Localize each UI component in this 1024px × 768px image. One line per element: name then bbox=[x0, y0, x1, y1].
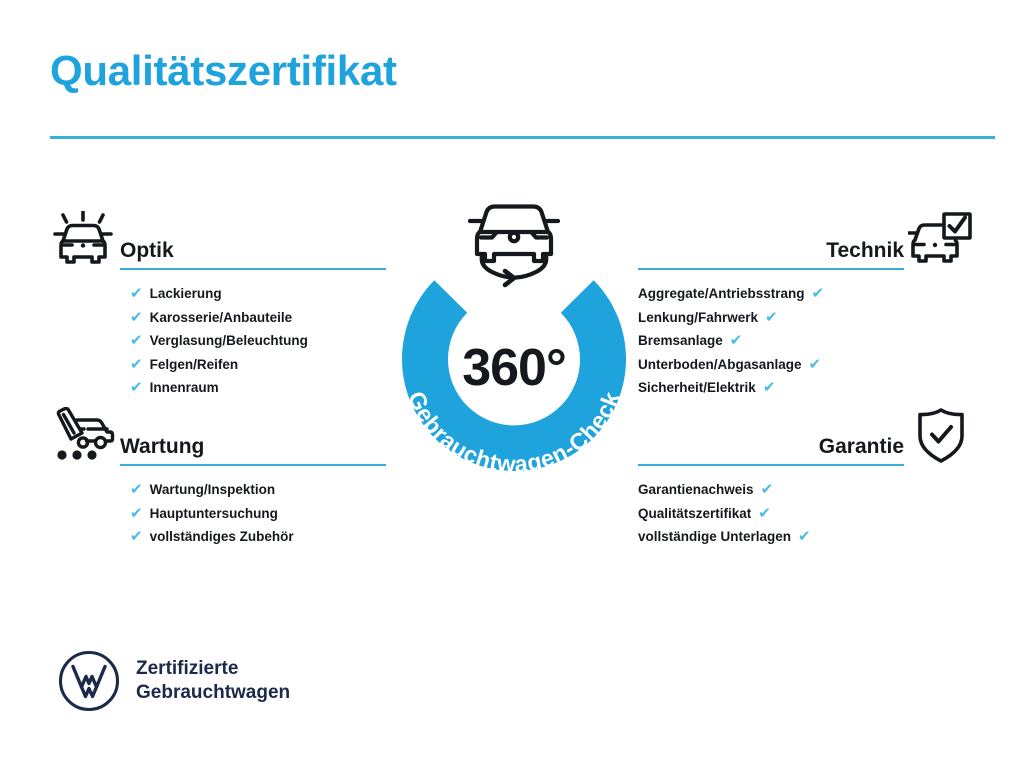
check-icon: ✔ bbox=[758, 506, 771, 521]
list-item: ✔vollständige Unterlagen bbox=[638, 525, 978, 549]
list-item: ✔Garantienachweis bbox=[638, 478, 978, 502]
list-item-label: Lenkung/Fahrwerk bbox=[638, 306, 758, 330]
list-item: ✔Unterboden/Abgasanlage bbox=[638, 353, 978, 377]
checklist-wartung: ✔Wartung/Inspektion ✔Hauptuntersuchung ✔… bbox=[46, 468, 386, 549]
pen-car-service-icon bbox=[46, 404, 120, 468]
list-item-label: Hauptuntersuchung bbox=[150, 502, 278, 526]
section-optik: Optik ✔Lackierung ✔Karosserie/Anbauteile… bbox=[46, 200, 386, 400]
list-item: ✔Verglasung/Beleuchtung bbox=[46, 329, 386, 353]
list-item-label: Unterboden/Abgasanlage bbox=[638, 353, 802, 377]
vw-brand-logo: Zertifizierte Gebrauchtwagen bbox=[58, 650, 290, 712]
section-wartung: Wartung ✔Wartung/Inspektion ✔Hauptunters… bbox=[46, 396, 386, 549]
vw-roundel-icon bbox=[58, 650, 120, 712]
page-title: Qualitätszertifikat bbox=[50, 50, 397, 92]
vw-brand-text: Zertifizierte Gebrauchtwagen bbox=[136, 657, 290, 706]
list-item-label: Wartung/Inspektion bbox=[150, 478, 276, 502]
check-icon: ✔ bbox=[130, 482, 143, 497]
vw-brand-line2: Gebrauchtwagen bbox=[136, 681, 290, 705]
checklist-optik: ✔Lackierung ✔Karosserie/Anbauteile ✔Verg… bbox=[46, 272, 386, 400]
check-icon: ✔ bbox=[130, 506, 143, 521]
list-item-label: vollständiges Zubehör bbox=[150, 525, 294, 549]
check-icon: ✔ bbox=[130, 529, 143, 544]
section-title-technik: Technik bbox=[638, 239, 904, 268]
section-title-garantie: Garantie bbox=[638, 435, 904, 464]
list-item-label: Qualitätszertifikat bbox=[638, 502, 751, 526]
list-item-label: Lackierung bbox=[150, 282, 222, 306]
section-title-optik: Optik bbox=[120, 239, 386, 268]
check-icon: ✔ bbox=[130, 286, 143, 301]
checklist-garantie: ✔Garantienachweis ✔Qualitätszertifikat ✔… bbox=[638, 468, 978, 549]
check-icon: ✔ bbox=[812, 286, 825, 301]
list-item-label: Garantienachweis bbox=[638, 478, 754, 502]
check-icon: ✔ bbox=[130, 333, 143, 348]
list-item: ✔Wartung/Inspektion bbox=[46, 478, 386, 502]
gebrauchtwagen-check-badge: Gebrauchtwagen-Check 360° bbox=[374, 192, 654, 492]
section-title-wartung: Wartung bbox=[120, 435, 386, 464]
list-item: ✔Qualitätszertifikat bbox=[638, 502, 978, 526]
list-item-label: Felgen/Reifen bbox=[150, 353, 239, 377]
list-item: ✔Lenkung/Fahrwerk bbox=[638, 306, 978, 330]
list-item-label: Aggregate/Antriebsstrang bbox=[638, 282, 805, 306]
list-item: ✔Felgen/Reifen bbox=[46, 353, 386, 377]
vw-brand-line1: Zertifizierte bbox=[136, 657, 290, 681]
list-item: ✔Lackierung bbox=[46, 282, 386, 306]
car-checkbox-icon bbox=[904, 208, 978, 272]
list-item-label: vollständige Unterlagen bbox=[638, 525, 791, 549]
check-icon: ✔ bbox=[130, 357, 143, 372]
check-icon: ✔ bbox=[130, 380, 143, 395]
check-icon: ✔ bbox=[798, 529, 811, 544]
check-icon: ✔ bbox=[763, 380, 776, 395]
list-item: ✔Aggregate/Antriebsstrang bbox=[638, 282, 978, 306]
section-underline bbox=[638, 268, 904, 270]
list-item: ✔Hauptuntersuchung bbox=[46, 502, 386, 526]
check-icon: ✔ bbox=[809, 357, 822, 372]
check-icon: ✔ bbox=[761, 482, 774, 497]
section-underline bbox=[638, 464, 904, 466]
list-item: ✔Karosserie/Anbauteile bbox=[46, 306, 386, 330]
list-item-label: Karosserie/Anbauteile bbox=[150, 306, 293, 330]
checklist-technik: ✔Aggregate/Antriebsstrang ✔Lenkung/Fahrw… bbox=[638, 272, 978, 400]
check-icon: ✔ bbox=[130, 310, 143, 325]
list-item-label: Verglasung/Beleuchtung bbox=[150, 329, 308, 353]
header-divider bbox=[50, 136, 995, 139]
car-rotate-icon bbox=[458, 192, 570, 296]
list-item: ✔vollständiges Zubehör bbox=[46, 525, 386, 549]
section-garantie: Garantie ✔Garantienachweis ✔Qualitätszer… bbox=[638, 396, 978, 549]
badge-number: 360° bbox=[374, 338, 654, 398]
check-icon: ✔ bbox=[730, 333, 743, 348]
list-item: ✔Bremsanlage bbox=[638, 329, 978, 353]
section-technik: Technik ✔Aggregate/Antriebsstrang ✔Lenku… bbox=[638, 200, 978, 400]
car-shine-icon bbox=[46, 208, 120, 272]
check-icon: ✔ bbox=[765, 310, 778, 325]
section-underline bbox=[120, 268, 386, 270]
section-underline bbox=[120, 464, 386, 466]
shield-check-icon bbox=[904, 404, 978, 468]
